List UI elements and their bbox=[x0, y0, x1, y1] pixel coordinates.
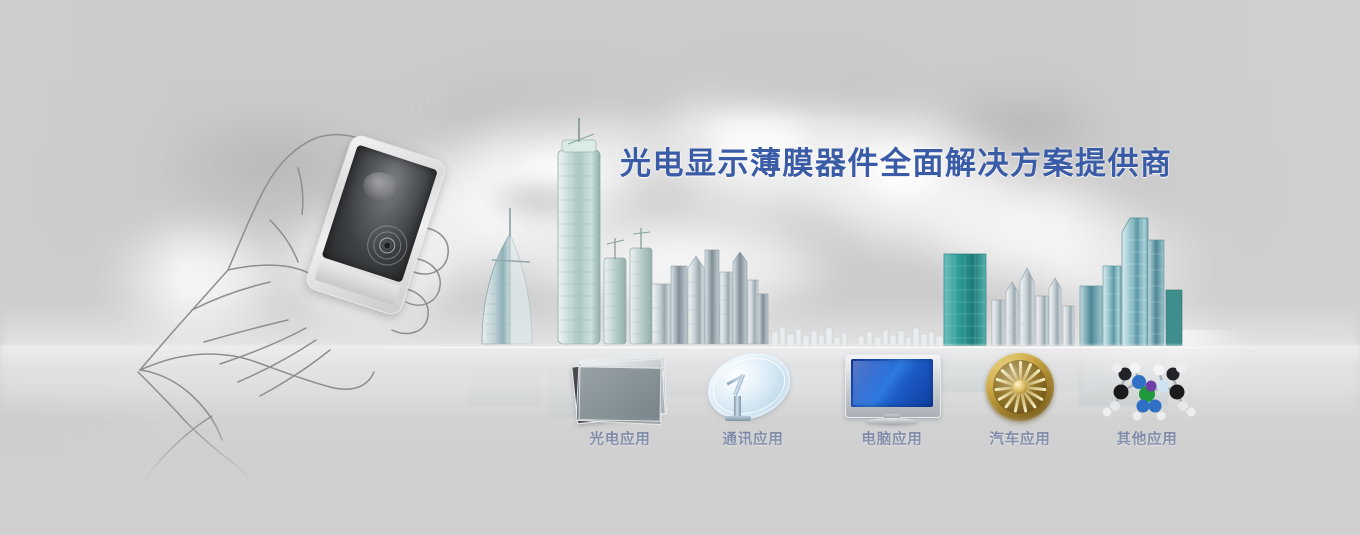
hero-banner: 光电显示薄膜器件全面解决方案提供商 光电应用 通讯应用 bbox=[0, 0, 1360, 535]
right-teal-towers bbox=[1078, 210, 1168, 346]
car-wheel-icon bbox=[960, 352, 1080, 424]
silver-cluster bbox=[990, 256, 1082, 346]
distant-skyline bbox=[770, 316, 950, 346]
molecule-model bbox=[1087, 352, 1207, 424]
sail-tower bbox=[470, 204, 542, 346]
computer-monitor-icon bbox=[832, 352, 952, 424]
molecule-icon bbox=[1087, 352, 1207, 424]
bottom-fade bbox=[0, 415, 1360, 535]
teal-tower bbox=[942, 250, 988, 346]
glass-panels-icon bbox=[560, 352, 680, 424]
page-title: 光电显示薄膜器件全面解决方案提供商 bbox=[620, 138, 1173, 183]
satellite-dish-icon bbox=[693, 352, 813, 424]
far-right-building bbox=[1164, 288, 1184, 346]
central-cluster bbox=[650, 238, 770, 346]
